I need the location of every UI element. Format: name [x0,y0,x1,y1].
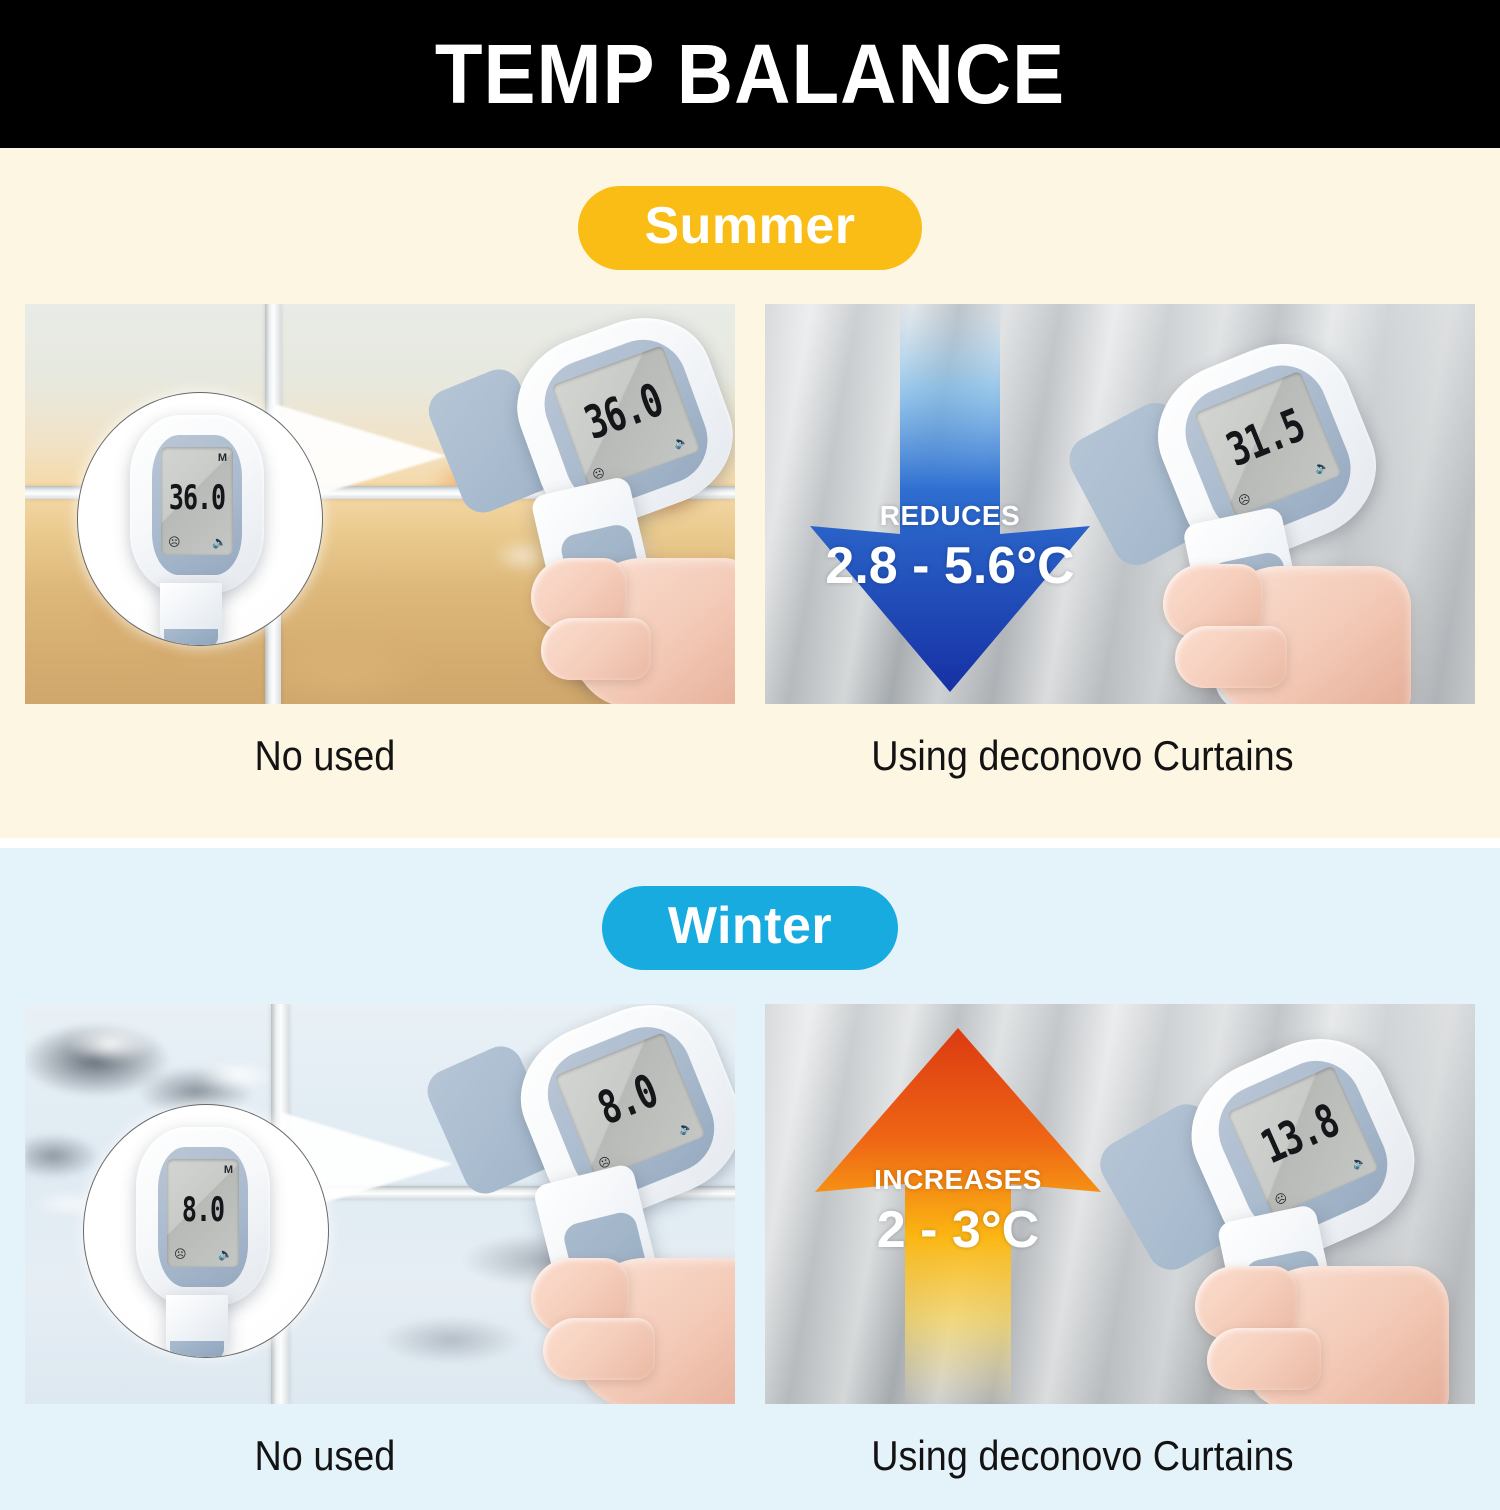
section-winter: Winter M 8.0 [0,848,1500,1510]
lcd-temperature-value: 8.0 [563,1053,693,1147]
lcd-temperature-value: 36.0 [161,478,233,517]
speaker-icon: 🔈 [218,1248,233,1260]
season-badge-winter[interactable]: Winter [602,886,898,970]
thermometer-pad [164,629,218,646]
arrow-title: REDUCES [795,500,1105,532]
summer-captions: No used Using deconovo Curtains [0,732,1500,780]
section-summer: Summer M [0,148,1500,838]
reduces-arrow: REDUCES 2.8 - 5.6°C [795,304,1105,694]
caption-summer-no-curtain: No used [25,732,664,780]
arrow-value: 2.8 - 5.6°C [795,536,1105,596]
sad-face-icon: ☹ [591,466,607,482]
sad-face-icon: ☹ [168,536,181,548]
index-finger [1207,1328,1321,1390]
winter-captions: No used Using deconovo Curtains [0,1432,1500,1480]
summer-badge-row: Summer [0,148,1500,270]
sad-face-icon: ☹ [1236,492,1252,508]
lcd-temperature-value: 13.8 [1236,1086,1364,1183]
thermometer-pad [170,1341,224,1358]
speaker-icon: 🔈 [212,536,227,548]
sad-face-icon: ☹ [174,1248,187,1260]
magnifier-circle: M 36.0 ☹ 🔈 [77,392,323,646]
winter-panels: M 8.0 ☹ 🔈 8.0 ☹ [0,1004,1500,1404]
speaker-icon: 🔈 [672,433,690,449]
thermometer-magnified: M 36.0 ☹ 🔈 [130,415,278,646]
speaker-icon: 🔈 [677,1119,695,1136]
arrow-down-icon [795,304,1105,694]
lcd-temperature-value: 36.0 [559,367,688,458]
infographic-page: TEMP BALANCE Summer [0,0,1500,1500]
speaker-icon: 🔈 [1313,458,1331,475]
summer-panels: M 36.0 ☹ 🔈 [0,304,1500,704]
magnifier-circle: M 8.0 ☹ 🔈 [83,1104,329,1358]
lcd-screen: M 36.0 ☹ 🔈 [161,447,233,555]
arrow-title: INCREASES [803,1164,1113,1196]
caption-winter-with-curtain: Using deconovo Curtains [765,1432,1404,1480]
increases-arrow: INCREASES 2 - 3°C [803,1024,1113,1404]
index-finger [543,1318,655,1380]
hand [1189,1254,1451,1404]
hand [523,540,735,704]
lcd-mode-unit-label: M [224,1164,234,1176]
lcd-mode-unit-label: M [218,452,228,464]
index-finger [541,618,651,680]
caption-winter-no-curtain: No used [25,1432,664,1480]
caption-summer-with-curtain: Using deconovo Curtains [765,732,1404,780]
lcd-temperature-value: 31.5 [1203,392,1329,485]
speaker-icon: 🔈 [1350,1154,1369,1171]
season-badge-summer[interactable]: Summer [578,186,921,270]
hand [1155,552,1415,704]
lcd-temperature-value: 8.0 [167,1190,239,1229]
sad-face-icon: ☹ [1273,1191,1289,1207]
index-finger [1175,626,1287,688]
arrow-value: 2 - 3°C [803,1200,1113,1260]
hand [525,1242,735,1404]
lcd-screen: M 8.0 ☹ 🔈 [167,1159,239,1267]
page-title: TEMP BALANCE [435,25,1065,123]
winter-badge-row: Winter [0,848,1500,970]
panel-winter-with-curtain: INCREASES 2 - 3°C 13.8 ☹ 🔈 [765,1004,1475,1404]
panel-summer-no-curtain: M 36.0 ☹ 🔈 [25,304,735,704]
header-bar: TEMP BALANCE [0,0,1500,148]
panel-winter-no-curtain: M 8.0 ☹ 🔈 8.0 ☹ [25,1004,735,1404]
panel-summer-with-curtain: REDUCES 2.8 - 5.6°C 31.5 ☹ 🔈 [765,304,1475,704]
thermometer-magnified: M 8.0 ☹ 🔈 [136,1127,284,1358]
section-divider [0,838,1500,848]
